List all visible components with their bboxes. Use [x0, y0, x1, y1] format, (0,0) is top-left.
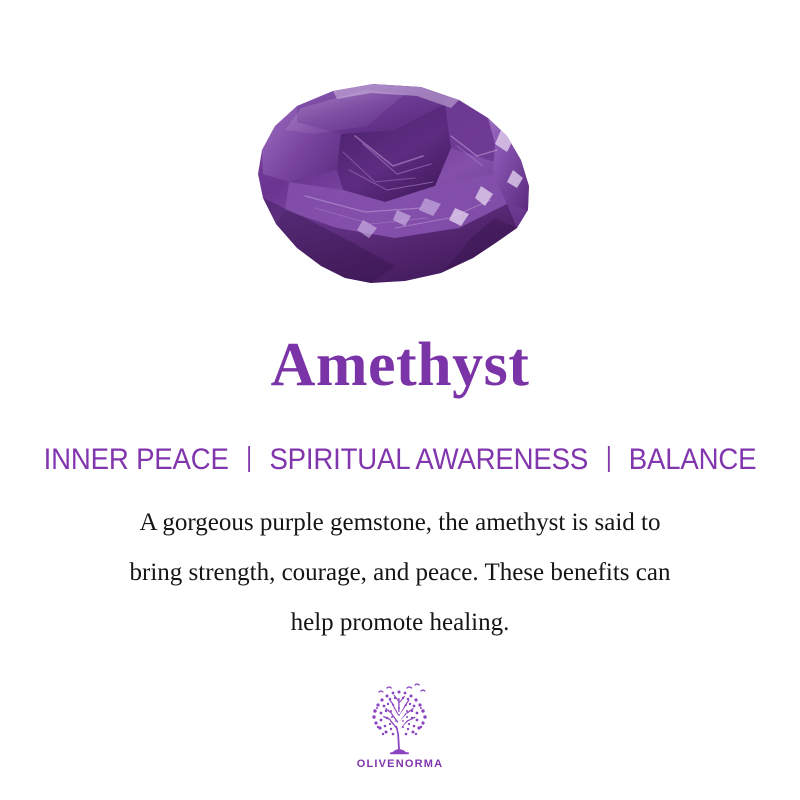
keyword-list: INNER PEACE SPIRITUAL AWARENESS BALANCE: [32, 443, 768, 477]
description-text: A gorgeous purple gemstone, the amethyst…: [55, 498, 745, 648]
brand-wordmark: OLIVENORMA: [0, 758, 800, 770]
keyword-separator-2: [608, 446, 610, 472]
hero-image-area: [0, 0, 800, 320]
brand-logo: OLIVENORMA: [0, 682, 800, 770]
description-line-1: A gorgeous purple gemstone, the amethyst…: [55, 498, 745, 548]
amethyst-product-card: Amethyst INNER PEACE SPIRITUAL AWARENESS…: [0, 0, 800, 800]
keyword-inner-peace: INNER PEACE: [44, 443, 229, 476]
keyword-spiritual-awareness: SPIRITUAL AWARENESS: [269, 443, 588, 476]
tree-of-life-icon: [357, 682, 443, 756]
amethyst-crystal-image: [245, 78, 555, 298]
description-line-3: help promote healing.: [55, 598, 745, 648]
page-title: Amethyst: [0, 333, 800, 398]
keyword-balance: BALANCE: [629, 443, 757, 476]
keyword-separator-1: [248, 446, 250, 472]
description-line-2: bring strength, courage, and peace. Thes…: [55, 548, 745, 598]
